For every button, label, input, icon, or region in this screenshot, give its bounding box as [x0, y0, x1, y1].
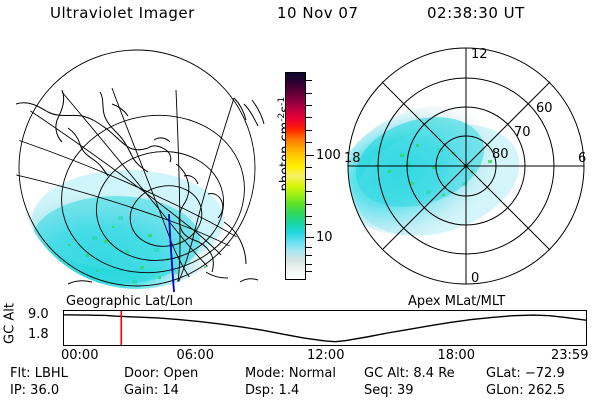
observation-time: 02:38:30 UT [427, 4, 525, 22]
altitude-axis-label: GC Alt [3, 301, 18, 347]
mlt-label-18: 18 [344, 151, 361, 166]
colorbar-tick [306, 224, 312, 225]
altitude-timeline[interactable]: GC Alt 9.0 1.8 [0, 308, 600, 348]
colorbar-gradient-box [285, 72, 306, 280]
colorbar-gradient [286, 73, 305, 279]
time-label-0: 00:00 [61, 348, 98, 363]
colorbar-panel: photon cm-2s-1 10010 [266, 44, 344, 294]
colorbar-tick [306, 179, 312, 180]
altitude-plot-box[interactable] [63, 310, 587, 346]
mlat-label-60: 60 [536, 101, 553, 116]
colorbar-major-tick [306, 155, 314, 156]
geographic-plot-svg [8, 44, 266, 292]
altitude-plot-svg [64, 311, 586, 345]
apex-magnetic-panel[interactable]: 12 18 6 0 60 70 80 [342, 44, 594, 292]
status-seq: Seq: 39 [364, 383, 414, 398]
time-label-3: 18:00 [438, 348, 475, 363]
colorbar-tick [306, 191, 312, 192]
status-glon: GLon: 262.5 [486, 383, 565, 398]
colorbar-label-1: 10 [316, 231, 333, 244]
mlt-label-12: 12 [471, 47, 488, 62]
colorbar-tick [306, 255, 312, 256]
aurora-overlay-geographic [12, 168, 228, 292]
status-dsp: Dsp: 1.4 [245, 383, 299, 398]
time-label-1: 06:00 [177, 348, 214, 363]
geographic-caption: Geographic Lat/Lon [66, 294, 193, 309]
colorbar-tick [306, 271, 312, 272]
apex-caption: Apex MLat/MLT [408, 294, 505, 309]
status-ip: IP: 36.0 [10, 383, 59, 398]
status-glat: GLat: −72.9 [486, 366, 565, 381]
aurora-overlay-apex [321, 83, 534, 258]
time-axis: 00:0006:0012:0018:0023:59 [0, 348, 600, 366]
header-bar: Ultraviolet Imager 10 Nov 07 02:38:30 UT [0, 4, 600, 30]
ultraviolet-imager-window: Ultraviolet Imager 10 Nov 07 02:38:30 UT [0, 0, 600, 400]
status-gc-alt: GC Alt: 8.4 Re [364, 366, 455, 381]
mlt-label-0: 0 [471, 271, 479, 286]
altitude-tick-high: 9.0 [28, 308, 49, 321]
status-door: Door: Open [124, 366, 198, 381]
colorbar-tick [306, 204, 312, 205]
colorbar-tick [306, 93, 312, 94]
colorbar-tick [306, 167, 312, 168]
colorbar-tick [306, 80, 312, 81]
time-label-2: 12:00 [307, 348, 344, 363]
colorbar-tick [306, 142, 312, 143]
status-mode: Mode: Normal [245, 366, 336, 381]
colorbar-tick [306, 264, 312, 265]
colorbar-tick [306, 105, 312, 106]
status-panel: Flt: LBHL IP: 36.0 Door: Open Gain: 14 M… [0, 366, 600, 400]
colorbar-tick [306, 216, 312, 217]
colorbar-tick [306, 130, 312, 131]
apex-plot-svg: 12 18 6 0 60 70 80 [342, 44, 594, 292]
colorbar-tick [306, 117, 312, 118]
colorbar-major-tick [306, 237, 314, 238]
status-filter: Flt: LBHL [10, 366, 68, 381]
altitude-tick-low: 1.8 [28, 328, 49, 341]
mlt-spokes [348, 48, 584, 284]
instrument-title: Ultraviolet Imager [50, 4, 195, 22]
colorbar-tick [306, 247, 312, 248]
mlat-label-70: 70 [514, 125, 531, 140]
observation-date: 10 Nov 07 [277, 4, 359, 22]
mlt-label-6: 6 [578, 151, 586, 166]
time-label-4: 23:59 [551, 348, 588, 363]
colorbar-label-0: 100 [316, 149, 341, 162]
geographic-image-panel[interactable] [8, 44, 266, 292]
altitude-trace [64, 315, 586, 342]
mlat-label-80: 80 [492, 147, 509, 162]
status-gain: Gain: 14 [124, 383, 179, 398]
